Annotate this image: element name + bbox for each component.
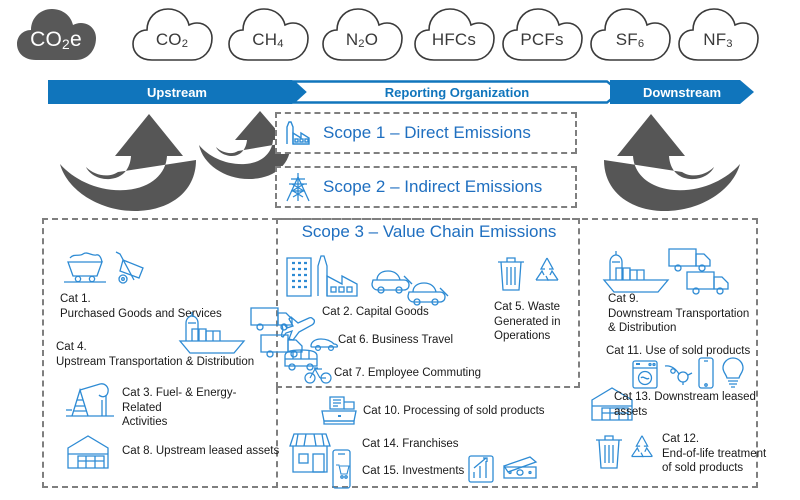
banner-label-reporting-organization: Reporting Organization: [385, 85, 529, 100]
cat-4-caption: Cat 4. Upstream Transportation & Distrib…: [56, 340, 268, 369]
banknote-icon: [500, 454, 540, 482]
cat-12-line3: of sold products: [662, 461, 800, 476]
cat-14-caption: Cat 14. Franchises: [362, 437, 562, 452]
gas-cloud-label: NF3: [676, 4, 760, 66]
banner-label-upstream: Upstream: [147, 85, 207, 100]
banner-segment-reporting-organization[interactable]: Reporting Organization: [292, 80, 622, 104]
gas-cloud-label: CO2: [130, 4, 214, 66]
pylon-glyph: [283, 171, 313, 203]
power-pylon-icon: [283, 171, 313, 203]
downstream-flow-arrow: [600, 108, 745, 213]
gas-cloud-label: SF6: [588, 4, 672, 66]
gas-cloud-label: HFCs: [412, 4, 496, 66]
smartphone-icon: [696, 356, 716, 390]
gas-cloud-co2e: CO2e: [14, 4, 98, 66]
greenhouse-gas-cloud-row: CO2e CO2 CH4 N2O HFCs: [0, 0, 800, 72]
cat-5-caption: Cat 5. Waste Generated in Operations: [494, 300, 578, 344]
banner-segment-upstream[interactable]: Upstream: [48, 80, 306, 104]
scope-1-box[interactable]: Scope 1 – Direct Emissions: [275, 112, 577, 154]
cat-3-line1: Cat 3. Fuel- & Energy-Related: [122, 386, 272, 415]
storefront-icon: [286, 430, 334, 476]
cat-8-line1: Cat 8. Upstream leased assets: [122, 444, 282, 459]
smartphone-glyph: [696, 356, 716, 390]
cat-5-line2: Generated in: [494, 315, 578, 330]
trash-bin-glyph: [592, 430, 626, 472]
trash-bin-icon: [592, 430, 626, 472]
value-chain-banner: Upstream Reporting Organization Downstre…: [48, 80, 754, 104]
scope-3-column-divider: [276, 388, 278, 488]
cat-4-line1: Cat 4.: [56, 340, 268, 355]
warehouse-glyph: [64, 432, 112, 472]
cat-5-line3: Operations: [494, 329, 578, 344]
scope-3-title: Scope 3 – Value Chain Emissions: [288, 222, 570, 242]
bicycle-icon: [303, 363, 333, 385]
cat-3-caption: Cat 3. Fuel- & Energy-Related Activities: [122, 386, 272, 430]
recycle-icon: [530, 254, 564, 288]
mobile-cart-icon: [328, 447, 354, 491]
cargo-ship-icon: [596, 250, 676, 296]
mobile-cart-glyph: [328, 447, 354, 491]
hand-truck-glyph: [110, 248, 148, 286]
cat-4-line2: Upstream Transportation & Distribution: [56, 355, 268, 370]
gas-cloud-co2: CO2: [130, 4, 214, 66]
curved-arrow-icon: [55, 108, 200, 213]
gas-cloud-label: PCFs: [500, 4, 584, 66]
bulldozer-icon: [404, 274, 450, 308]
cat-12-line1: Cat 12.: [662, 432, 800, 447]
cat-9-line1: Cat 9.: [608, 292, 758, 307]
banner-segment-downstream[interactable]: Downstream: [610, 80, 754, 104]
warehouse-icon: [64, 432, 112, 472]
office-building-icon: [282, 250, 316, 298]
bicycle-glyph: [303, 363, 333, 385]
gas-cloud-label: CO2e: [14, 4, 98, 66]
cat-7-caption: Cat 7. Employee Commuting: [334, 366, 544, 381]
pumpjack-glyph: [62, 378, 118, 420]
upstream-flow-arrow-large: [55, 108, 200, 213]
recycle-glyph: [530, 254, 564, 288]
factory-glyph: [283, 118, 313, 148]
gas-cloud-ch4: CH4: [226, 4, 310, 66]
gas-cloud-label: N2O: [320, 4, 404, 66]
gas-cloud-nf3: NF3: [676, 4, 760, 66]
scope-2-title: Scope 2 – Indirect Emissions: [323, 177, 542, 197]
cat-13-caption: Cat 13. Downstream leased assets: [614, 390, 794, 419]
factory-icon: [283, 118, 313, 148]
curved-arrow-icon: [600, 108, 745, 213]
lightbulb-icon: [720, 356, 746, 390]
cat-10-caption: Cat 10. Processing of sold products: [363, 404, 603, 419]
bulldozer-glyph: [404, 274, 450, 308]
lightbulb-glyph: [720, 356, 746, 390]
storefront-glyph: [286, 430, 334, 476]
factory-glyph: [312, 252, 368, 298]
cat-1-line1: Cat 1.: [60, 292, 260, 307]
recycle-icon: [626, 432, 658, 464]
office-building-glyph: [282, 250, 316, 298]
scope-2-box[interactable]: Scope 2 – Indirect Emissions: [275, 166, 577, 208]
mining-cart-glyph: [62, 250, 108, 284]
trash-bin-icon: [494, 252, 528, 294]
cat-14-line1: Cat 14. Franchises: [362, 437, 562, 452]
cat-9-caption: Cat 9. Downstream Transportation & Distr…: [608, 292, 758, 336]
cat-7-line1: Cat 7. Employee Commuting: [334, 366, 544, 381]
scope-1-title: Scope 1 – Direct Emissions: [323, 123, 531, 143]
cat-12-caption: Cat 12. End-of-life treatment of sold pr…: [662, 432, 800, 476]
trash-bin-glyph: [494, 252, 528, 294]
gas-cloud-hfcs: HFCs: [412, 4, 496, 66]
gas-cloud-pcfs: PCFs: [500, 4, 584, 66]
cat-13-line1: Cat 13. Downstream leased: [614, 390, 794, 405]
oil-pumpjack-icon: [62, 378, 118, 420]
mining-cart-icon: [62, 250, 108, 284]
cat-3-line2: Activities: [122, 415, 272, 430]
cat-13-line2: assets: [614, 405, 794, 420]
cat-5-line1: Cat 5. Waste: [494, 300, 578, 315]
plug-icon: [663, 362, 695, 388]
cat-10-line1: Cat 10. Processing of sold products: [363, 404, 603, 419]
cat-9-line2: Downstream Transportation: [608, 307, 758, 322]
cargo-ship-glyph: [596, 250, 676, 296]
cat-9-line3: & Distribution: [608, 321, 758, 336]
ghg-scopes-diagram: CO2e CO2 CH4 N2O HFCs: [0, 0, 800, 500]
gas-cloud-label: CH4: [226, 4, 310, 66]
hand-truck-icon: [110, 248, 148, 286]
plug-glyph: [663, 362, 695, 388]
gas-cloud-sf6: SF6: [588, 4, 672, 66]
factory-icon: [312, 252, 368, 298]
cat-2-line1: Cat 2. Capital Goods: [322, 305, 512, 320]
bar-chart-glyph: [466, 452, 496, 484]
cat-2-caption: Cat 2. Capital Goods: [322, 305, 512, 320]
recycle-glyph: [626, 432, 658, 464]
gas-cloud-n2o: N2O: [320, 4, 404, 66]
cash-register-icon: [318, 393, 360, 427]
bar-chart-icon: [466, 452, 496, 484]
banner-label-downstream: Downstream: [643, 85, 721, 100]
cat-12-line2: End-of-life treatment: [662, 447, 800, 462]
cat-8-caption: Cat 8. Upstream leased assets: [122, 444, 282, 459]
cash-register-glyph: [318, 393, 360, 427]
banknote-glyph: [500, 454, 540, 482]
